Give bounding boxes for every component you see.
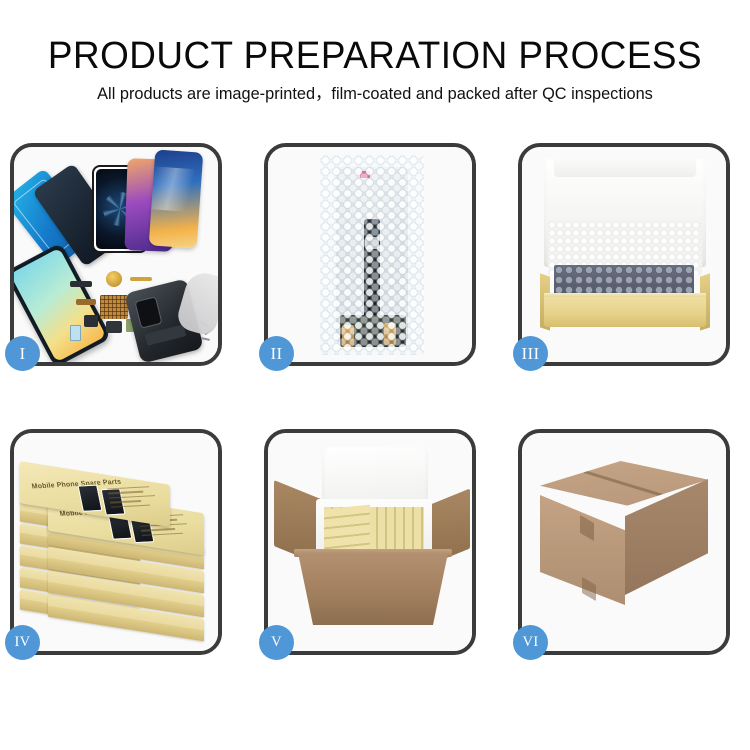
- camera-module-icon: [84, 315, 98, 327]
- carton-front-icon: [298, 553, 448, 625]
- small-screen-icon: [70, 325, 81, 341]
- step-panel-3: III: [518, 143, 730, 366]
- step-panel-1: I: [10, 143, 222, 366]
- connector-icon-1: [76, 299, 96, 305]
- process-steps-grid: I II: [10, 143, 740, 655]
- phone-parts-scene: [14, 147, 218, 362]
- chip-part-icon: [70, 281, 92, 287]
- step-panel-5: V: [264, 429, 476, 655]
- step-badge-2: II: [259, 336, 294, 371]
- step-panel-4: Mobile Phone Spare Parts Mobile Phone Sp…: [10, 429, 222, 655]
- speaker-module-icon: [106, 321, 122, 333]
- box-stack: Mobile Phone Spare Parts Mobile Phone Sp…: [20, 455, 216, 641]
- page-title: PRODUCT PREPARATION PROCESS: [11, 0, 739, 76]
- retail-box-stack-scene: Mobile Phone Spare Parts Mobile Phone Sp…: [14, 433, 218, 651]
- packed-boxes-row-side-icon: [324, 505, 370, 554]
- step-image-1: [14, 147, 218, 362]
- step-badge-4: IV: [5, 625, 40, 660]
- bubble-bag-icon: [320, 155, 424, 355]
- carton-packing-scene: [268, 433, 472, 651]
- box-spec-lines-icon: [107, 485, 162, 511]
- bubble-texture-icon-2: [320, 155, 424, 355]
- page-subtitle: All products are image-printed，film-coat…: [4, 76, 747, 104]
- vibration-motor-icon: [106, 271, 122, 287]
- step-badge-6: VI: [513, 625, 548, 660]
- step-image-5: [268, 433, 472, 651]
- step-badge-5: V: [259, 625, 294, 660]
- step-image-6: [522, 433, 726, 651]
- step-panel-6: VI: [518, 429, 730, 655]
- step-badge-1: I: [5, 336, 40, 371]
- bubble-wrapped-lcd-scene: [268, 147, 472, 362]
- box-phone-graphic-icon: [78, 485, 103, 512]
- step-panel-2: II: [264, 143, 476, 366]
- step-image-2: [268, 147, 472, 362]
- box-front-panel-icon: [544, 297, 706, 327]
- inner-box-scene: [522, 147, 726, 362]
- styrofoam-lid-icon: [322, 447, 428, 505]
- sealed-carton-scene: [522, 433, 726, 651]
- product-preparation-process-page: PRODUCT PREPARATION PROCESS All products…: [0, 0, 750, 750]
- step-image-4: Mobile Phone Spare Parts Mobile Phone Sp…: [14, 433, 218, 651]
- step-badge-3: III: [513, 336, 548, 371]
- flex-cable-icon-1: [130, 277, 152, 281]
- step-image-3: [522, 147, 726, 362]
- page-header: PRODUCT PREPARATION PROCESS All products…: [0, 0, 750, 104]
- blue-gold-phone-icon: [149, 149, 204, 248]
- ic-chip-grid-icon: [100, 295, 128, 319]
